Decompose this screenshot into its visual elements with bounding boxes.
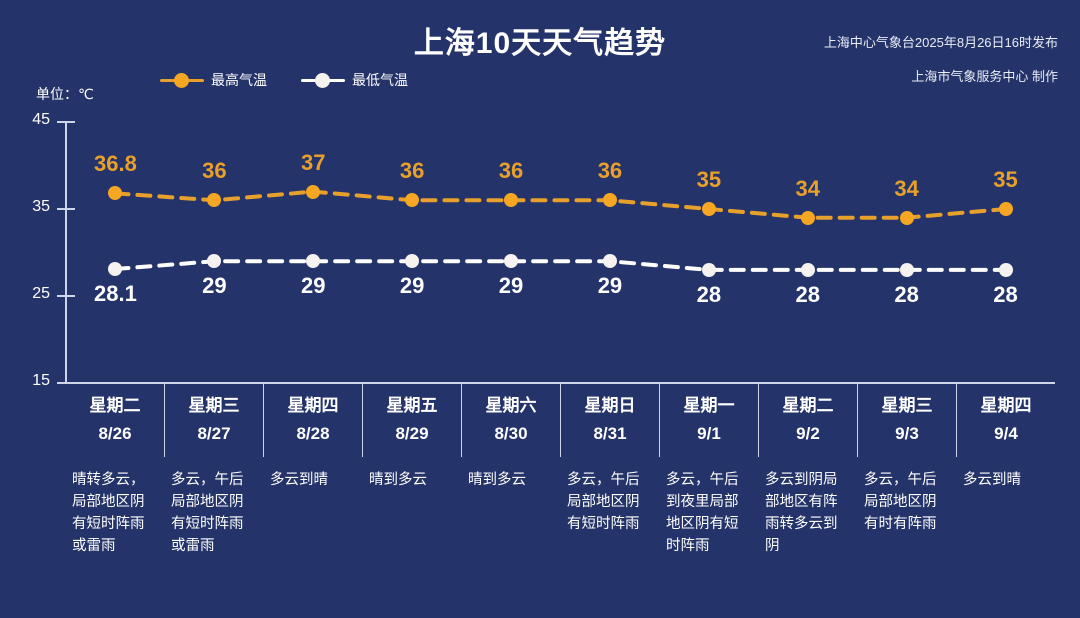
y-axis-tick-label: 35 [16, 198, 50, 216]
low-temp-value-label: 29 [499, 273, 523, 299]
weather-description: 多云到阴局部地区有阵雨转多云到阴 [765, 469, 851, 557]
low-temp-point [702, 263, 716, 277]
high-temp-point [207, 193, 221, 207]
date-label: 9/3 [858, 424, 956, 444]
high-temp-point [306, 185, 320, 199]
high-temp-point [504, 193, 518, 207]
circle-marker-low-icon [301, 72, 345, 88]
low-temp-point [603, 254, 617, 268]
high-temp-value-label: 35 [993, 167, 1017, 193]
high-temp-value-label: 37 [301, 150, 325, 176]
low-temp-value-label: 29 [202, 273, 226, 299]
chart-legend: 最高气温 最低气温 [160, 70, 408, 90]
low-temp-value-label: 28 [796, 282, 820, 308]
weekday-label: 星期五 [363, 391, 461, 416]
high-temp-value-label: 36 [598, 158, 622, 184]
low-temp-point [207, 254, 221, 268]
weather-description: 晴到多云 [369, 469, 455, 491]
weekday-label: 星期三 [165, 391, 263, 416]
forecast-day-column[interactable]: 星期三8/27多云，午后局部地区阴有短时阵雨或雷雨 [164, 383, 263, 593]
weekday-label: 星期四 [957, 391, 1055, 416]
date-label: 9/1 [660, 424, 758, 444]
y-axis-tick-label: 25 [16, 285, 50, 303]
weekday-label: 星期三 [858, 391, 956, 416]
legend-label-high: 最高气温 [211, 70, 267, 90]
weather-description: 晴到多云 [468, 469, 554, 491]
low-temp-point [405, 254, 419, 268]
high-temp-value-label: 34 [796, 176, 820, 202]
column-divider-mask [164, 457, 166, 593]
low-temp-point [108, 262, 122, 276]
low-temp-point [900, 263, 914, 277]
high-temp-point [405, 193, 419, 207]
circle-marker-high-icon [160, 72, 204, 88]
weekday-label: 星期二 [759, 391, 857, 416]
legend-label-low: 最低气温 [352, 70, 408, 90]
weekday-label: 星期四 [264, 391, 362, 416]
date-label: 8/26 [66, 424, 164, 444]
y-axis-tick-label: 45 [16, 111, 50, 129]
column-divider-mask [560, 457, 562, 593]
date-label: 8/31 [561, 424, 659, 444]
date-label: 8/30 [462, 424, 560, 444]
low-temp-value-label: 28.1 [94, 281, 137, 307]
weather-description: 多云到晴 [963, 469, 1049, 491]
column-divider-mask [659, 457, 661, 593]
weekday-label: 星期二 [66, 391, 164, 416]
low-temp-point [504, 254, 518, 268]
forecast-day-column[interactable]: 星期六8/30晴到多云 [461, 383, 560, 593]
high-temp-point [801, 211, 815, 225]
high-temp-value-label: 36 [400, 158, 424, 184]
low-temp-value-label: 28 [993, 282, 1017, 308]
column-divider-mask [758, 457, 760, 593]
high-temp-value-label: 34 [894, 176, 918, 202]
forecast-day-column[interactable]: 星期三9/3多云，午后局部地区阴有时有阵雨 [857, 383, 956, 593]
column-divider-mask [956, 457, 958, 593]
column-divider-mask [263, 457, 265, 593]
column-divider-mask [857, 457, 859, 593]
high-temp-line [115, 192, 1005, 218]
weather-description: 多云，午后局部地区阴有短时阵雨或雷雨 [171, 469, 257, 557]
high-temp-point [999, 202, 1013, 216]
legend-item-low: 最低气温 [301, 70, 408, 90]
high-temp-value-label: 36 [202, 158, 226, 184]
weekday-label: 星期一 [660, 391, 758, 416]
low-temp-point [306, 254, 320, 268]
high-temp-value-label: 36 [499, 158, 523, 184]
y-axis-tick-label: 15 [16, 372, 50, 390]
forecast-table: 星期二8/26晴转多云，局部地区阴有短时阵雨或雷雨星期三8/27多云，午后局部地… [66, 383, 1055, 593]
high-temp-value-label: 36.8 [94, 151, 137, 177]
date-label: 9/2 [759, 424, 857, 444]
low-temp-point [801, 263, 815, 277]
low-temp-value-label: 28 [894, 282, 918, 308]
high-temp-point [108, 186, 122, 200]
weekday-label: 星期日 [561, 391, 659, 416]
low-temp-value-label: 29 [400, 273, 424, 299]
high-temp-point [900, 211, 914, 225]
low-temp-value-label: 29 [301, 273, 325, 299]
date-label: 8/29 [363, 424, 461, 444]
weather-description: 多云，午后到夜里局部地区阴有短时阵雨 [666, 469, 752, 557]
column-divider-mask [362, 457, 364, 593]
forecast-day-column[interactable]: 星期日8/31多云，午后局部地区阴有短时阵雨 [560, 383, 659, 593]
high-temp-value-label: 35 [697, 167, 721, 193]
weather-description: 多云，午后局部地区阴有短时阵雨 [567, 469, 653, 535]
weekday-label: 星期六 [462, 391, 560, 416]
low-temp-value-label: 29 [598, 273, 622, 299]
publisher-line-1: 上海中心气象台2025年8月26日16时发布 [824, 32, 1058, 51]
high-temp-point [603, 193, 617, 207]
weather-trend-chart: 上海10天天气趋势 上海中心气象台2025年8月26日16时发布 上海市气象服务… [0, 0, 1080, 613]
publisher-line-2: 上海市气象服务中心 制作 [911, 66, 1058, 85]
weather-description: 多云，午后局部地区阴有时有阵雨 [864, 469, 950, 535]
date-label: 8/28 [264, 424, 362, 444]
forecast-day-column[interactable]: 星期一9/1多云，午后到夜里局部地区阴有短时阵雨 [659, 383, 758, 593]
high-temp-point [702, 202, 716, 216]
weather-description: 多云到晴 [270, 469, 356, 491]
forecast-day-column[interactable]: 星期二9/2多云到阴局部地区有阵雨转多云到阴 [758, 383, 857, 593]
unit-label: 单位：℃ [36, 84, 94, 104]
low-temp-value-label: 28 [697, 282, 721, 308]
low-temp-point [999, 263, 1013, 277]
forecast-day-column[interactable]: 星期四9/4多云到晴 [956, 383, 1055, 593]
date-label: 9/4 [957, 424, 1055, 444]
forecast-day-column[interactable]: 星期四8/28多云到晴 [263, 383, 362, 593]
forecast-day-column[interactable]: 星期五8/29晴到多云 [362, 383, 461, 593]
weather-description: 晴转多云，局部地区阴有短时阵雨或雷雨 [72, 469, 158, 557]
legend-item-high: 最高气温 [160, 70, 267, 90]
date-label: 8/27 [165, 424, 263, 444]
column-divider-mask [461, 457, 463, 593]
forecast-day-column[interactable]: 星期二8/26晴转多云，局部地区阴有短时阵雨或雷雨 [66, 383, 164, 593]
low-temp-line [115, 261, 1005, 270]
